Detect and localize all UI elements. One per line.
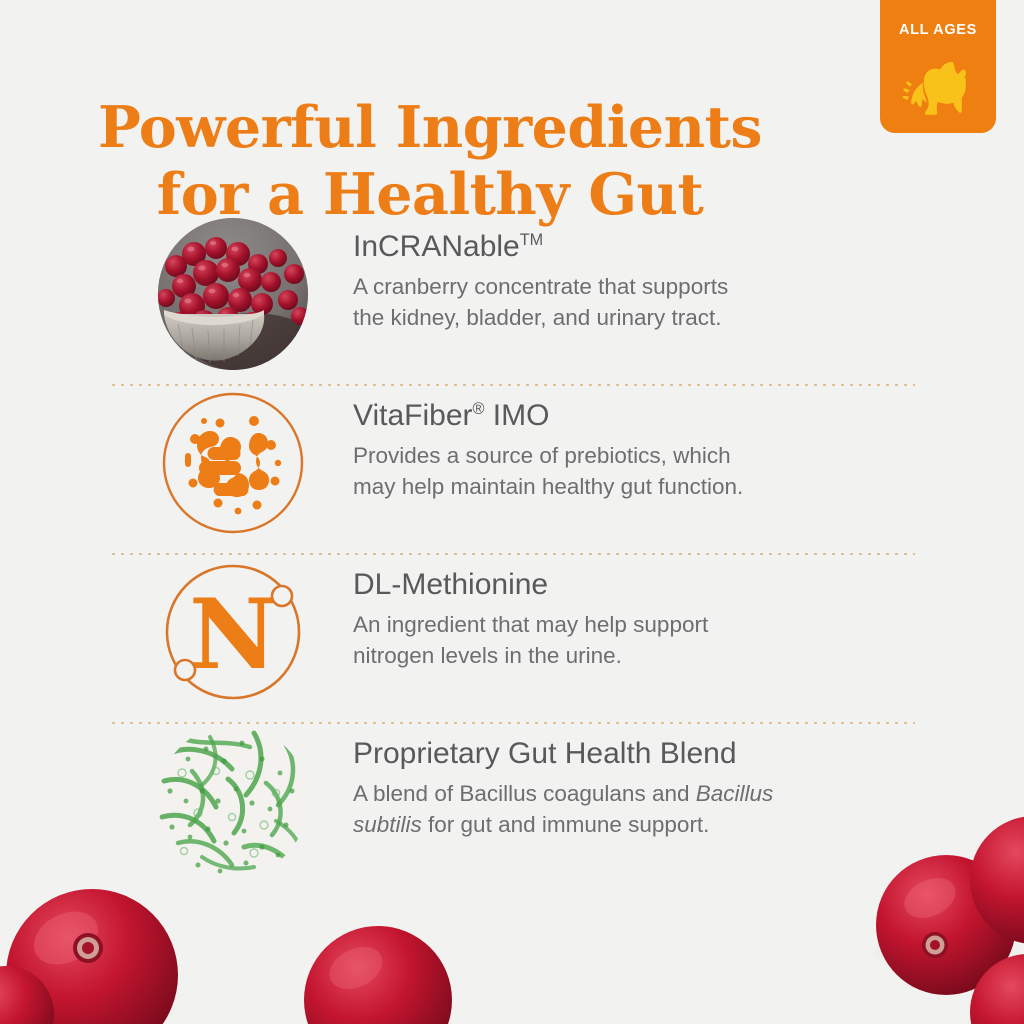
cranberry-bottom-left-small <box>0 966 54 1024</box>
incranable-description: A cranberry concentrate that supportsthe… <box>353 272 728 333</box>
svg-text:N: N <box>189 578 277 691</box>
gut-health-blend-title: Proprietary Gut Health Blend <box>353 737 773 770</box>
ingredient-row-vitafiber: VitaFiber® IMO Provides a source of preb… <box>0 387 1024 552</box>
gut-health-blend-description: A blend of Bacillus coagulans and Bacill… <box>353 779 773 840</box>
cranberry-bottom-left <box>6 889 178 1024</box>
vitafiber-name: VitaFiber <box>353 399 473 432</box>
vitafiber-name-tail: IMO <box>484 399 549 432</box>
cranberries-in-bowl-photo <box>158 218 308 370</box>
ingredient-row-dl-methionine: N DL-Methionine An ingredient that may h… <box>0 556 1024 721</box>
page-title: Powerful Ingredients for a Healthy Gut <box>0 94 860 229</box>
incranable-name: InCRANable <box>353 230 520 263</box>
registered-symbol: ® <box>473 400 485 418</box>
cranberry-right-lower <box>970 954 1024 1024</box>
gut-health-blend-icon <box>158 725 308 877</box>
vitafiber-description: Provides a source of prebiotics, whichma… <box>353 441 743 502</box>
ingredient-list: InCRANableTM A cranberry concentrate tha… <box>0 218 1024 890</box>
page-title-line-1: Powerful Ingredients <box>0 94 860 161</box>
all-ages-badge-label: ALL AGES <box>880 22 996 38</box>
incranable-icon <box>158 218 308 370</box>
vitafiber-icon <box>158 387 308 539</box>
all-ages-badge: ALL AGES <box>880 0 996 133</box>
ingredient-row-incranable: InCRANableTM A cranberry concentrate tha… <box>0 218 1024 383</box>
dl-methionine-description: An ingredient that may help supportnitro… <box>353 610 708 671</box>
dl-methionine-icon: N <box>158 556 308 708</box>
vitafiber-title: VitaFiber® IMO <box>353 399 743 432</box>
fiber-blob-circle-icon <box>158 387 308 539</box>
trademark-symbol: TM <box>520 231 543 249</box>
incranable-title: InCRANableTM <box>353 230 728 263</box>
gut-health-blend-text: Proprietary Gut Health Blend A blend of … <box>353 725 773 840</box>
nitrogen-n-circle-icon: N <box>158 556 308 708</box>
incranable-text: InCRANableTM A cranberry concentrate tha… <box>353 218 728 333</box>
bacteria-micrograph-photo <box>158 725 308 877</box>
dl-methionine-text: DL-Methionine An ingredient that may hel… <box>353 556 708 671</box>
ingredient-row-gut-health-blend: Proprietary Gut Health Blend A blend of … <box>0 725 1024 890</box>
cranberry-bottom-center <box>304 926 452 1024</box>
sitting-dog-icon <box>890 46 986 126</box>
dl-methionine-title: DL-Methionine <box>353 568 708 601</box>
vitafiber-text: VitaFiber® IMO Provides a source of preb… <box>353 387 743 502</box>
